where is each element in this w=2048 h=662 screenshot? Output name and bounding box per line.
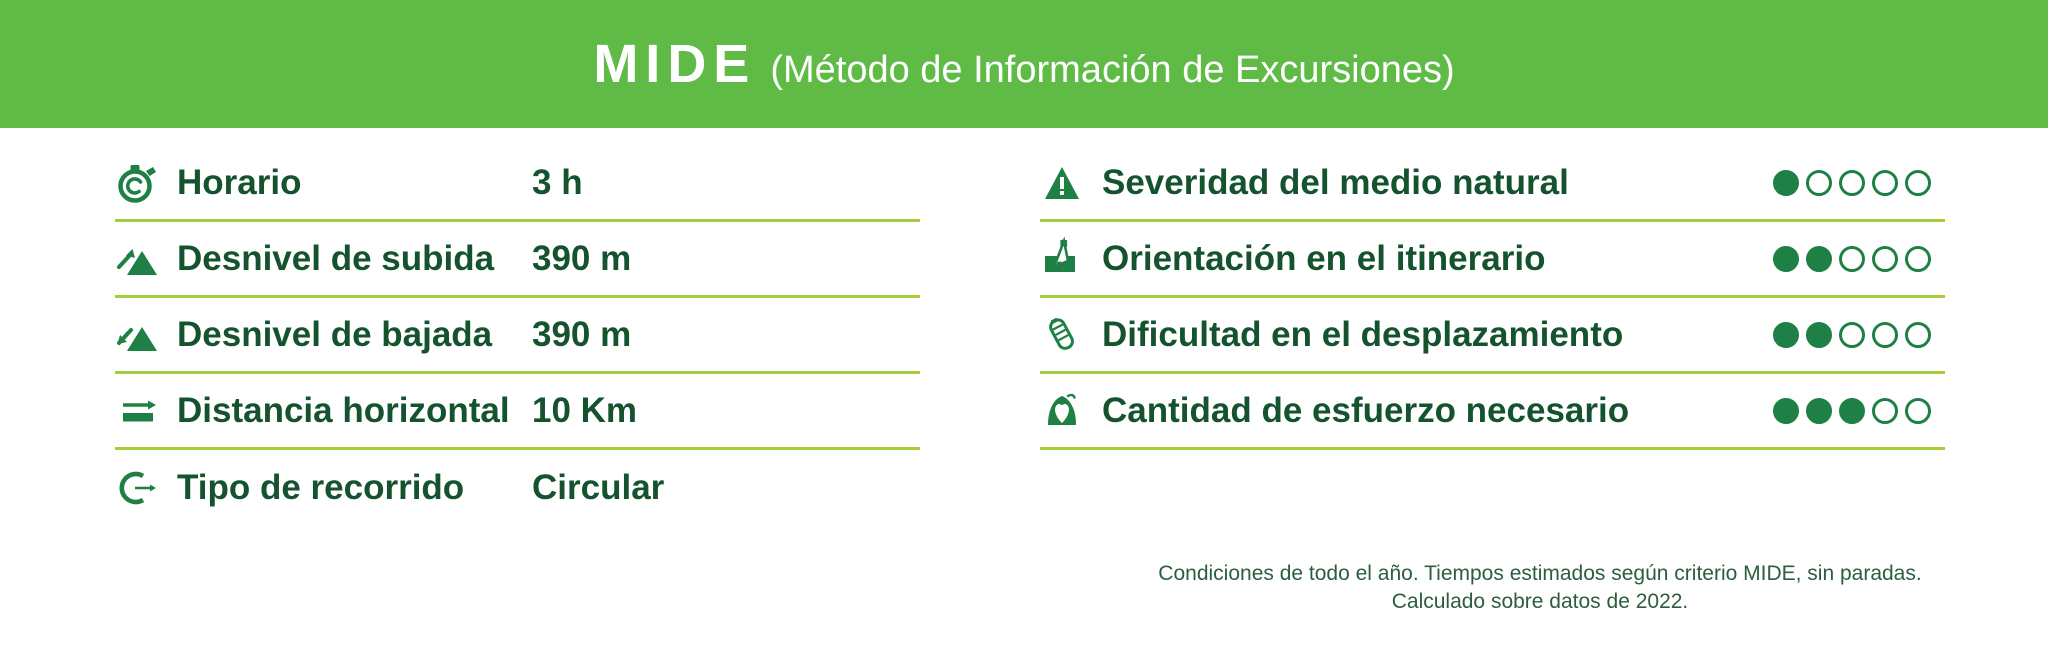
rating-dot — [1773, 170, 1799, 196]
row-label: Distancia horizontal — [177, 391, 532, 431]
rating-dot — [1806, 246, 1832, 272]
rating-dot — [1839, 322, 1865, 348]
row-dificultad-desplazamiento: Dificultad en el desplazamiento — [1040, 298, 1945, 374]
row-value: 10 Km — [532, 391, 637, 431]
mide-infographic-card: MIDE (Método de Información de Excursion… — [0, 0, 2048, 662]
row-label: Orientación en el itinerario — [1102, 239, 1773, 279]
rating-dot — [1839, 398, 1865, 424]
mide-header-band: MIDE (Método de Información de Excursion… — [0, 0, 2048, 128]
mide-header-title-group: MIDE (Método de Información de Excursion… — [593, 33, 1454, 95]
rating-dots-dificultad — [1773, 322, 1945, 348]
rating-dot — [1905, 246, 1931, 272]
row-value: 390 m — [532, 315, 631, 355]
rating-dot — [1872, 322, 1898, 348]
row-label: Horario — [177, 163, 532, 203]
rating-dot — [1773, 246, 1799, 272]
rating-dot — [1905, 170, 1931, 196]
row-distancia-horizontal: Distancia horizontal 10 Km — [115, 374, 920, 450]
row-label: Desnivel de bajada — [177, 315, 532, 355]
mountain-ascent-icon — [115, 237, 177, 281]
rating-dot — [1806, 322, 1832, 348]
rating-dot — [1905, 322, 1931, 348]
row-severidad-medio-natural: Severidad del medio natural — [1040, 146, 1945, 222]
rating-dots-esfuerzo — [1773, 398, 1945, 424]
row-horario: Horario 3 h — [115, 146, 920, 222]
mide-left-column: Horario 3 h Desnivel de subida 390 m — [0, 128, 920, 662]
rating-dot — [1872, 246, 1898, 272]
stopwatch-icon — [115, 161, 177, 205]
rating-dot — [1839, 170, 1865, 196]
rating-dot — [1806, 398, 1832, 424]
footnote-line-2: Calculado sobre datos de 2022. — [1035, 588, 2045, 616]
rating-dot — [1773, 398, 1799, 424]
row-label: Cantidad de esfuerzo necesario — [1102, 391, 1773, 431]
footnote-line-1: Condiciones de todo el año. Tiempos esti… — [1035, 560, 2045, 588]
rating-dot — [1905, 398, 1931, 424]
hiking-boot-icon — [1040, 313, 1102, 357]
row-tipo-recorrido: Tipo de recorrido Circular — [115, 450, 920, 526]
row-label: Desnivel de subida — [177, 239, 532, 279]
rating-dot — [1872, 398, 1898, 424]
circular-route-icon — [115, 466, 177, 510]
rating-dot — [1773, 322, 1799, 348]
row-desnivel-bajada: Desnivel de bajada 390 m — [115, 298, 920, 374]
rating-dot — [1872, 170, 1898, 196]
warning-triangle-icon — [1040, 161, 1102, 205]
rating-dots-orientacion — [1773, 246, 1945, 272]
mide-acronym: MIDE — [593, 33, 756, 95]
row-label: Severidad del medio natural — [1102, 163, 1773, 203]
mide-body: Horario 3 h Desnivel de subida 390 m — [0, 128, 2048, 662]
row-desnivel-subida: Desnivel de subida 390 m — [115, 222, 920, 298]
row-value: Circular — [532, 468, 664, 508]
effort-heart-icon — [1040, 389, 1102, 433]
row-value: 3 h — [532, 163, 583, 203]
rating-dots-severidad — [1773, 170, 1945, 196]
row-cantidad-esfuerzo: Cantidad de esfuerzo necesario — [1040, 374, 1945, 450]
row-label: Dificultad en el desplazamiento — [1102, 315, 1773, 355]
rating-dot — [1839, 246, 1865, 272]
footnote: Condiciones de todo el año. Tiempos esti… — [1035, 560, 2045, 615]
horizontal-distance-icon — [115, 389, 177, 433]
compass-map-icon — [1040, 237, 1102, 281]
rating-dot — [1806, 170, 1832, 196]
mountain-descent-icon — [115, 313, 177, 357]
row-orientacion-itinerario: Orientación en el itinerario — [1040, 222, 1945, 298]
row-label: Tipo de recorrido — [177, 468, 532, 508]
row-value: 390 m — [532, 239, 631, 279]
mide-subtitle: (Método de Información de Excursiones) — [770, 49, 1454, 92]
